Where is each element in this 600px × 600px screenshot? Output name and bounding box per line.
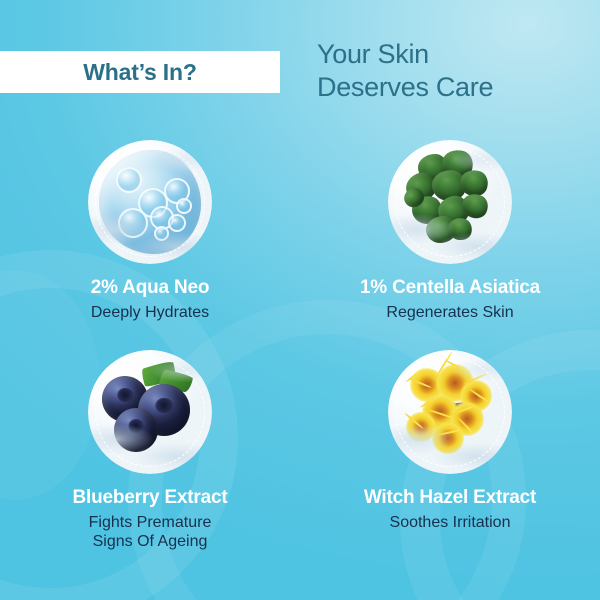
ingredients-infographic: What’s In? Your Skin Deserves Care bbox=[0, 0, 600, 600]
ingredient-image-aqua-neo bbox=[88, 140, 212, 264]
ingredient-grid: 2% Aqua Neo Deeply Hydrates bbox=[0, 140, 600, 590]
ingredient-labels-witch-hazel-extract: Witch Hazel Extract Soothes Irritation bbox=[300, 487, 600, 532]
ingredient-card-aqua-neo: 2% Aqua Neo Deeply Hydrates bbox=[0, 140, 300, 350]
headline: Your Skin Deserves Care bbox=[317, 38, 592, 105]
ingredient-image-blueberry-extract bbox=[88, 350, 212, 474]
ingredient-subtitle-line-2: Signs Of Ageing bbox=[8, 532, 292, 552]
ingredient-card-witch-hazel-extract: Witch Hazel Extract Soothes Irritation bbox=[300, 350, 600, 560]
ingredient-card-centella-asiatica: 1% Centella Asiatica Regenerates Skin bbox=[300, 140, 600, 350]
witch-hazel-flower-icon bbox=[388, 350, 512, 474]
ingredient-subtitle: Regenerates Skin bbox=[308, 303, 592, 323]
ingredient-card-blueberry-extract: Blueberry Extract Fights Premature Signs… bbox=[0, 350, 300, 560]
water-droplet-gel-icon bbox=[88, 140, 212, 264]
blueberry-icon bbox=[88, 350, 212, 474]
ingredient-subtitle: Soothes Irritation bbox=[308, 513, 592, 533]
ingredient-labels-blueberry-extract: Blueberry Extract Fights Premature Signs… bbox=[0, 487, 300, 552]
headline-line-1: Your Skin bbox=[317, 38, 592, 71]
whats-in-badge: What’s In? bbox=[0, 51, 280, 93]
ingredient-title: Blueberry Extract bbox=[8, 487, 292, 510]
headline-line-2: Deserves Care bbox=[317, 71, 592, 104]
ingredient-image-witch-hazel-extract bbox=[388, 350, 512, 474]
centella-leaf-icon bbox=[388, 140, 512, 264]
ingredient-subtitle: Fights Premature Signs Of Ageing bbox=[8, 513, 292, 552]
ingredient-title: Witch Hazel Extract bbox=[308, 487, 592, 510]
ingredient-labels-centella-asiatica: 1% Centella Asiatica Regenerates Skin bbox=[300, 277, 600, 322]
ingredient-image-centella-asiatica bbox=[388, 140, 512, 264]
ingredient-subtitle: Deeply Hydrates bbox=[8, 303, 292, 323]
ingredient-title: 1% Centella Asiatica bbox=[308, 277, 592, 300]
ingredient-labels-aqua-neo: 2% Aqua Neo Deeply Hydrates bbox=[0, 277, 300, 322]
whats-in-label: What’s In? bbox=[83, 59, 196, 86]
ingredient-subtitle-line-1: Fights Premature bbox=[8, 513, 292, 533]
ingredient-title: 2% Aqua Neo bbox=[8, 277, 292, 300]
